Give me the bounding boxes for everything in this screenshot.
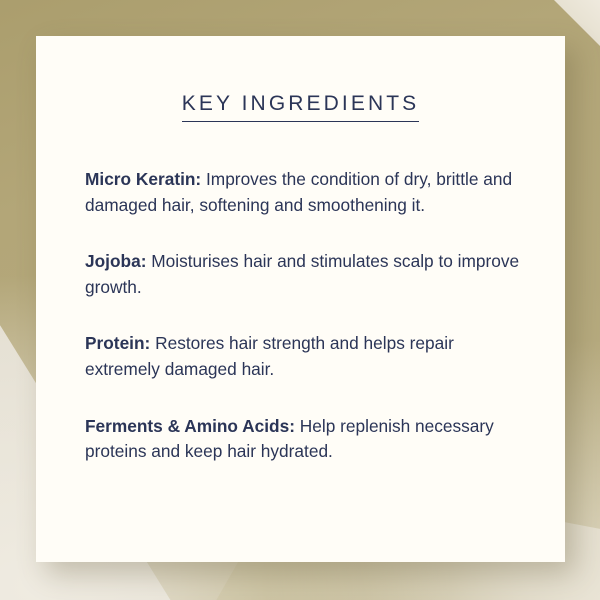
ingredient-name: Jojoba: [85,251,146,271]
list-item: Jojoba: Moisturises hair and stimulates … [85,249,531,300]
ingredient-name: Protein: [85,333,150,353]
ingredient-name: Micro Keratin: [85,169,201,189]
ingredients-list: Micro Keratin: Improves the condition of… [36,167,565,465]
product-ingredients-graphic: KEY INGREDIENTS Micro Keratin: Improves … [0,0,600,600]
list-item: Micro Keratin: Improves the condition of… [85,167,531,218]
ingredients-card: KEY INGREDIENTS Micro Keratin: Improves … [36,36,565,562]
page-title-container: KEY INGREDIENTS [36,93,565,122]
list-item: Ferments & Amino Acids: Help replenish n… [85,414,531,465]
ingredient-name: Ferments & Amino Acids: [85,416,295,436]
page-title: KEY INGREDIENTS [182,93,420,122]
ingredient-description: Moisturises hair and stimulates scalp to… [85,251,519,297]
list-item: Protein: Restores hair strength and help… [85,331,531,382]
